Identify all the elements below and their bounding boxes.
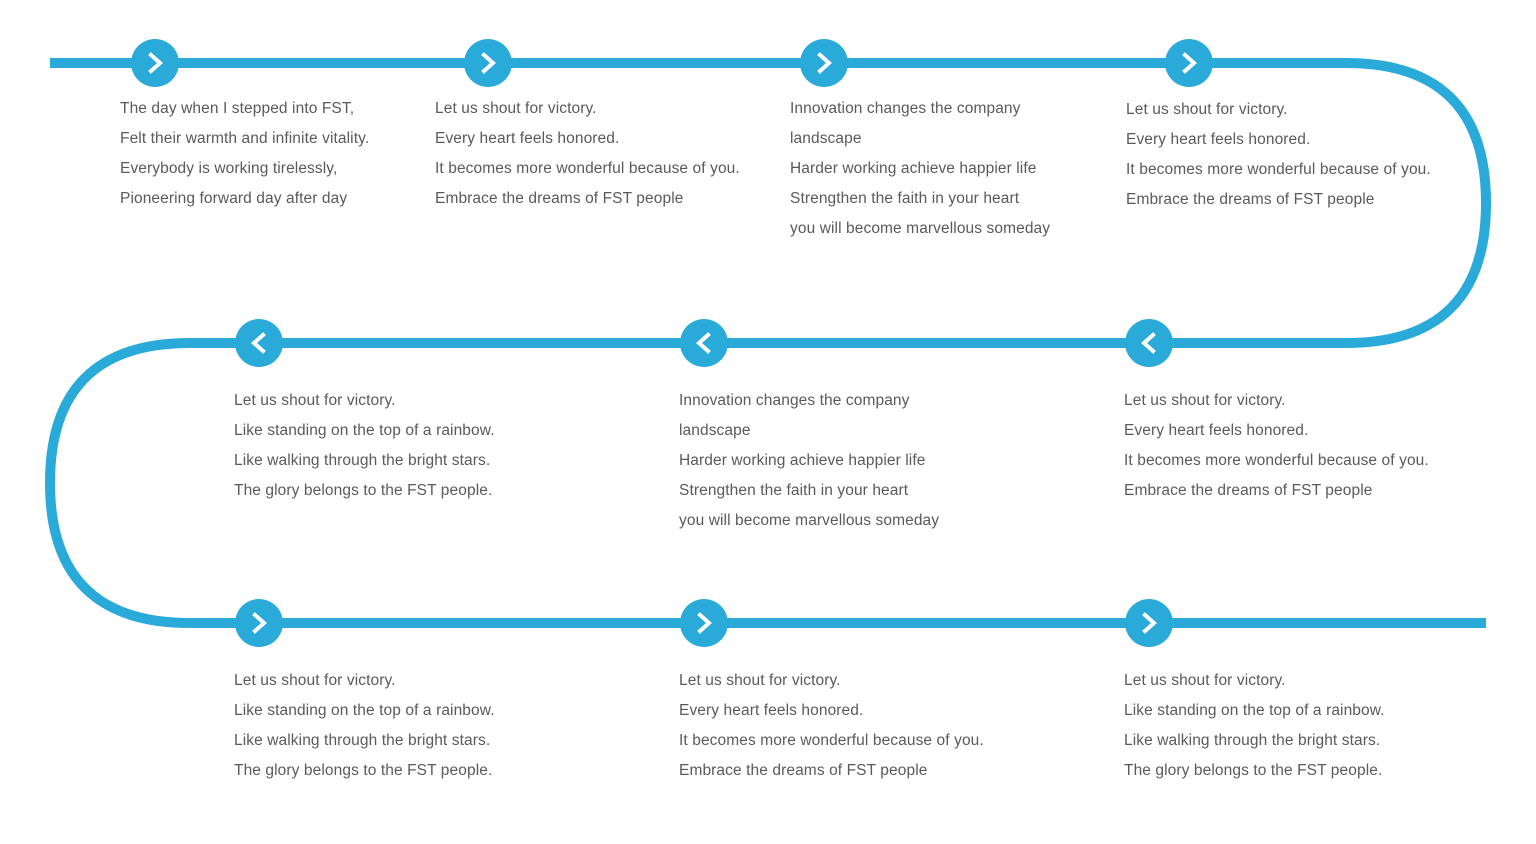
text-line: Let us shout for victory. (1124, 386, 1429, 416)
text-line: Harder working achieve happier life (790, 154, 1050, 184)
milestone-text-3: Innovation changes the companylandscapeH… (790, 94, 1050, 244)
milestone-node-3[interactable] (800, 39, 848, 87)
milestone-node-10[interactable] (1125, 599, 1173, 647)
text-line: The glory belongs to the FST people. (234, 756, 495, 786)
milestone-node-4[interactable] (1165, 39, 1213, 87)
text-line: Strengthen the faith in your heart (790, 184, 1050, 214)
milestone-text-10: Let us shout for victory.Like standing o… (1124, 666, 1385, 786)
chevron-right-icon (249, 611, 269, 635)
milestone-text-6: Innovation changes the companylandscapeH… (679, 386, 939, 536)
text-line: Every heart feels honored. (679, 696, 984, 726)
milestone-text-9: Let us shout for victory.Every heart fee… (679, 666, 984, 786)
text-line: Like standing on the top of a rainbow. (1124, 696, 1385, 726)
text-line: Innovation changes the company (679, 386, 939, 416)
text-line: you will become marvellous someday (790, 214, 1050, 244)
text-line: The glory belongs to the FST people. (234, 476, 495, 506)
milestone-node-6[interactable] (680, 319, 728, 367)
text-line: It becomes more wonderful because of you… (435, 154, 740, 184)
text-line: Let us shout for victory. (1126, 95, 1431, 125)
diagram-canvas: The day when I stepped into FST,Felt the… (0, 0, 1536, 844)
chevron-left-icon (1139, 331, 1159, 355)
text-line: Let us shout for victory. (234, 386, 495, 416)
chevron-left-icon (249, 331, 269, 355)
text-line: Innovation changes the company (790, 94, 1050, 124)
text-line: Every heart feels honored. (1126, 125, 1431, 155)
text-line: landscape (790, 124, 1050, 154)
chevron-right-icon (814, 51, 834, 75)
milestone-text-1: The day when I stepped into FST,Felt the… (120, 94, 369, 214)
chevron-right-icon (1139, 611, 1159, 635)
text-line: you will become marvellous someday (679, 506, 939, 536)
text-line: Like walking through the bright stars. (234, 726, 495, 756)
text-line: It becomes more wonderful because of you… (1126, 155, 1431, 185)
milestone-text-2: Let us shout for victory.Every heart fee… (435, 94, 740, 214)
text-line: Let us shout for victory. (1124, 666, 1385, 696)
text-line: Like standing on the top of a rainbow. (234, 696, 495, 726)
text-line: Like walking through the bright stars. (234, 446, 495, 476)
milestone-node-2[interactable] (464, 39, 512, 87)
text-line: Felt their warmth and infinite vitality. (120, 124, 369, 154)
text-line: Pioneering forward day after day (120, 184, 369, 214)
text-line: Strengthen the faith in your heart (679, 476, 939, 506)
milestone-node-5[interactable] (235, 319, 283, 367)
text-line: It becomes more wonderful because of you… (1124, 446, 1429, 476)
milestone-node-7[interactable] (1125, 319, 1173, 367)
milestone-node-8[interactable] (235, 599, 283, 647)
text-line: Every heart feels honored. (1124, 416, 1429, 446)
milestone-node-9[interactable] (680, 599, 728, 647)
milestone-node-1[interactable] (131, 39, 179, 87)
text-line: The day when I stepped into FST, (120, 94, 369, 124)
chevron-left-icon (694, 331, 714, 355)
text-line: Let us shout for victory. (234, 666, 495, 696)
text-line: Every heart feels honored. (435, 124, 740, 154)
text-line: Everybody is working tirelessly, (120, 154, 369, 184)
chevron-right-icon (694, 611, 714, 635)
text-line: Embrace the dreams of FST people (1126, 185, 1431, 215)
text-line: Embrace the dreams of FST people (1124, 476, 1429, 506)
text-line: Let us shout for victory. (679, 666, 984, 696)
text-line: Embrace the dreams of FST people (435, 184, 740, 214)
milestone-text-5: Let us shout for victory.Like standing o… (234, 386, 495, 506)
milestone-text-4: Let us shout for victory.Every heart fee… (1126, 95, 1431, 215)
text-line: landscape (679, 416, 939, 446)
text-line: Like standing on the top of a rainbow. (234, 416, 495, 446)
text-line: It becomes more wonderful because of you… (679, 726, 984, 756)
milestone-text-8: Let us shout for victory.Like standing o… (234, 666, 495, 786)
chevron-right-icon (478, 51, 498, 75)
text-line: Embrace the dreams of FST people (679, 756, 984, 786)
text-line: Like walking through the bright stars. (1124, 726, 1385, 756)
text-line: Let us shout for victory. (435, 94, 740, 124)
chevron-right-icon (1179, 51, 1199, 75)
text-line: Harder working achieve happier life (679, 446, 939, 476)
milestone-text-7: Let us shout for victory.Every heart fee… (1124, 386, 1429, 506)
text-line: The glory belongs to the FST people. (1124, 756, 1385, 786)
chevron-right-icon (145, 51, 165, 75)
